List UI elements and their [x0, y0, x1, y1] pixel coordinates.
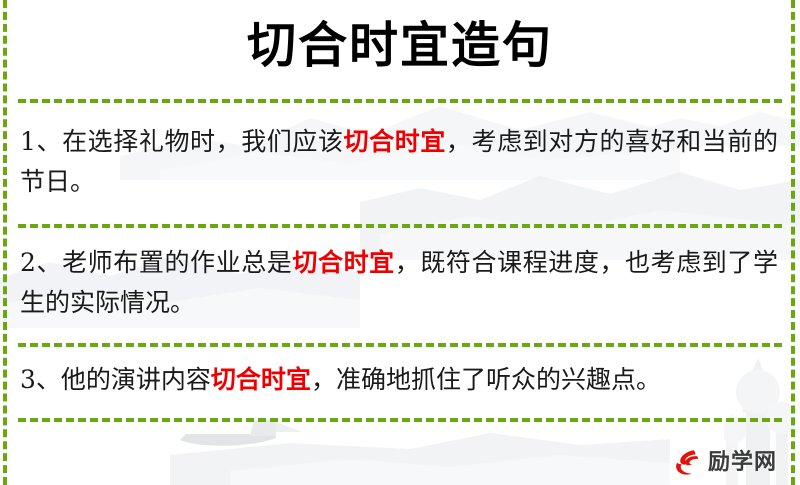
example-sentence-1: 1、在选择礼物时，我们应该切合时宜，考虑到对方的喜好和当前的节日。 [20, 122, 778, 202]
sentence-2-text-before: 老师布置的作业总是 [62, 248, 292, 277]
sentence-1-number: 1、 [20, 127, 62, 156]
example-sentence-2: 2、老师布置的作业总是切合时宜，既符合课程进度，也考虑到了学生的实际情况。 [20, 243, 778, 323]
slide-canvas: 切合时宜造句 1、在选择礼物时，我们应该切合时宜，考虑到对方的喜好和当前的节日。… [0, 0, 800, 485]
sentence-3-number: 3、 [20, 365, 61, 394]
example-sentence-3: 3、他的演讲内容切合时宜，准确地抓住了听众的兴趣点。 [20, 360, 778, 400]
sentence-3-text-before: 他的演讲内容 [61, 365, 211, 394]
ink-wash-river-watermark [110, 415, 670, 485]
sentence-1-text-before: 在选择礼物时，我们应该 [62, 127, 343, 156]
site-logo[interactable]: 励学网 [672, 447, 777, 479]
page-title: 切合时宜造句 [0, 14, 800, 76]
divider-above-sentence-2 [18, 224, 782, 228]
site-logo-text: 励学网 [708, 451, 777, 475]
divider-below-sentence-3 [18, 418, 782, 422]
ink-wash-boat-watermark [180, 418, 310, 452]
sentence-3-keyword: 切合时宜 [211, 365, 311, 394]
red-swirl-flame-icon [672, 448, 702, 478]
sentence-3-text-after: ，准确地抓住了听众的兴趣点。 [311, 365, 661, 394]
divider-above-sentence-3 [18, 343, 782, 347]
sentence-2-number: 2、 [20, 248, 62, 277]
divider-above-sentence-1 [18, 99, 782, 103]
sentence-2-keyword: 切合时宜 [292, 248, 394, 277]
sentence-1-keyword: 切合时宜 [344, 127, 446, 156]
